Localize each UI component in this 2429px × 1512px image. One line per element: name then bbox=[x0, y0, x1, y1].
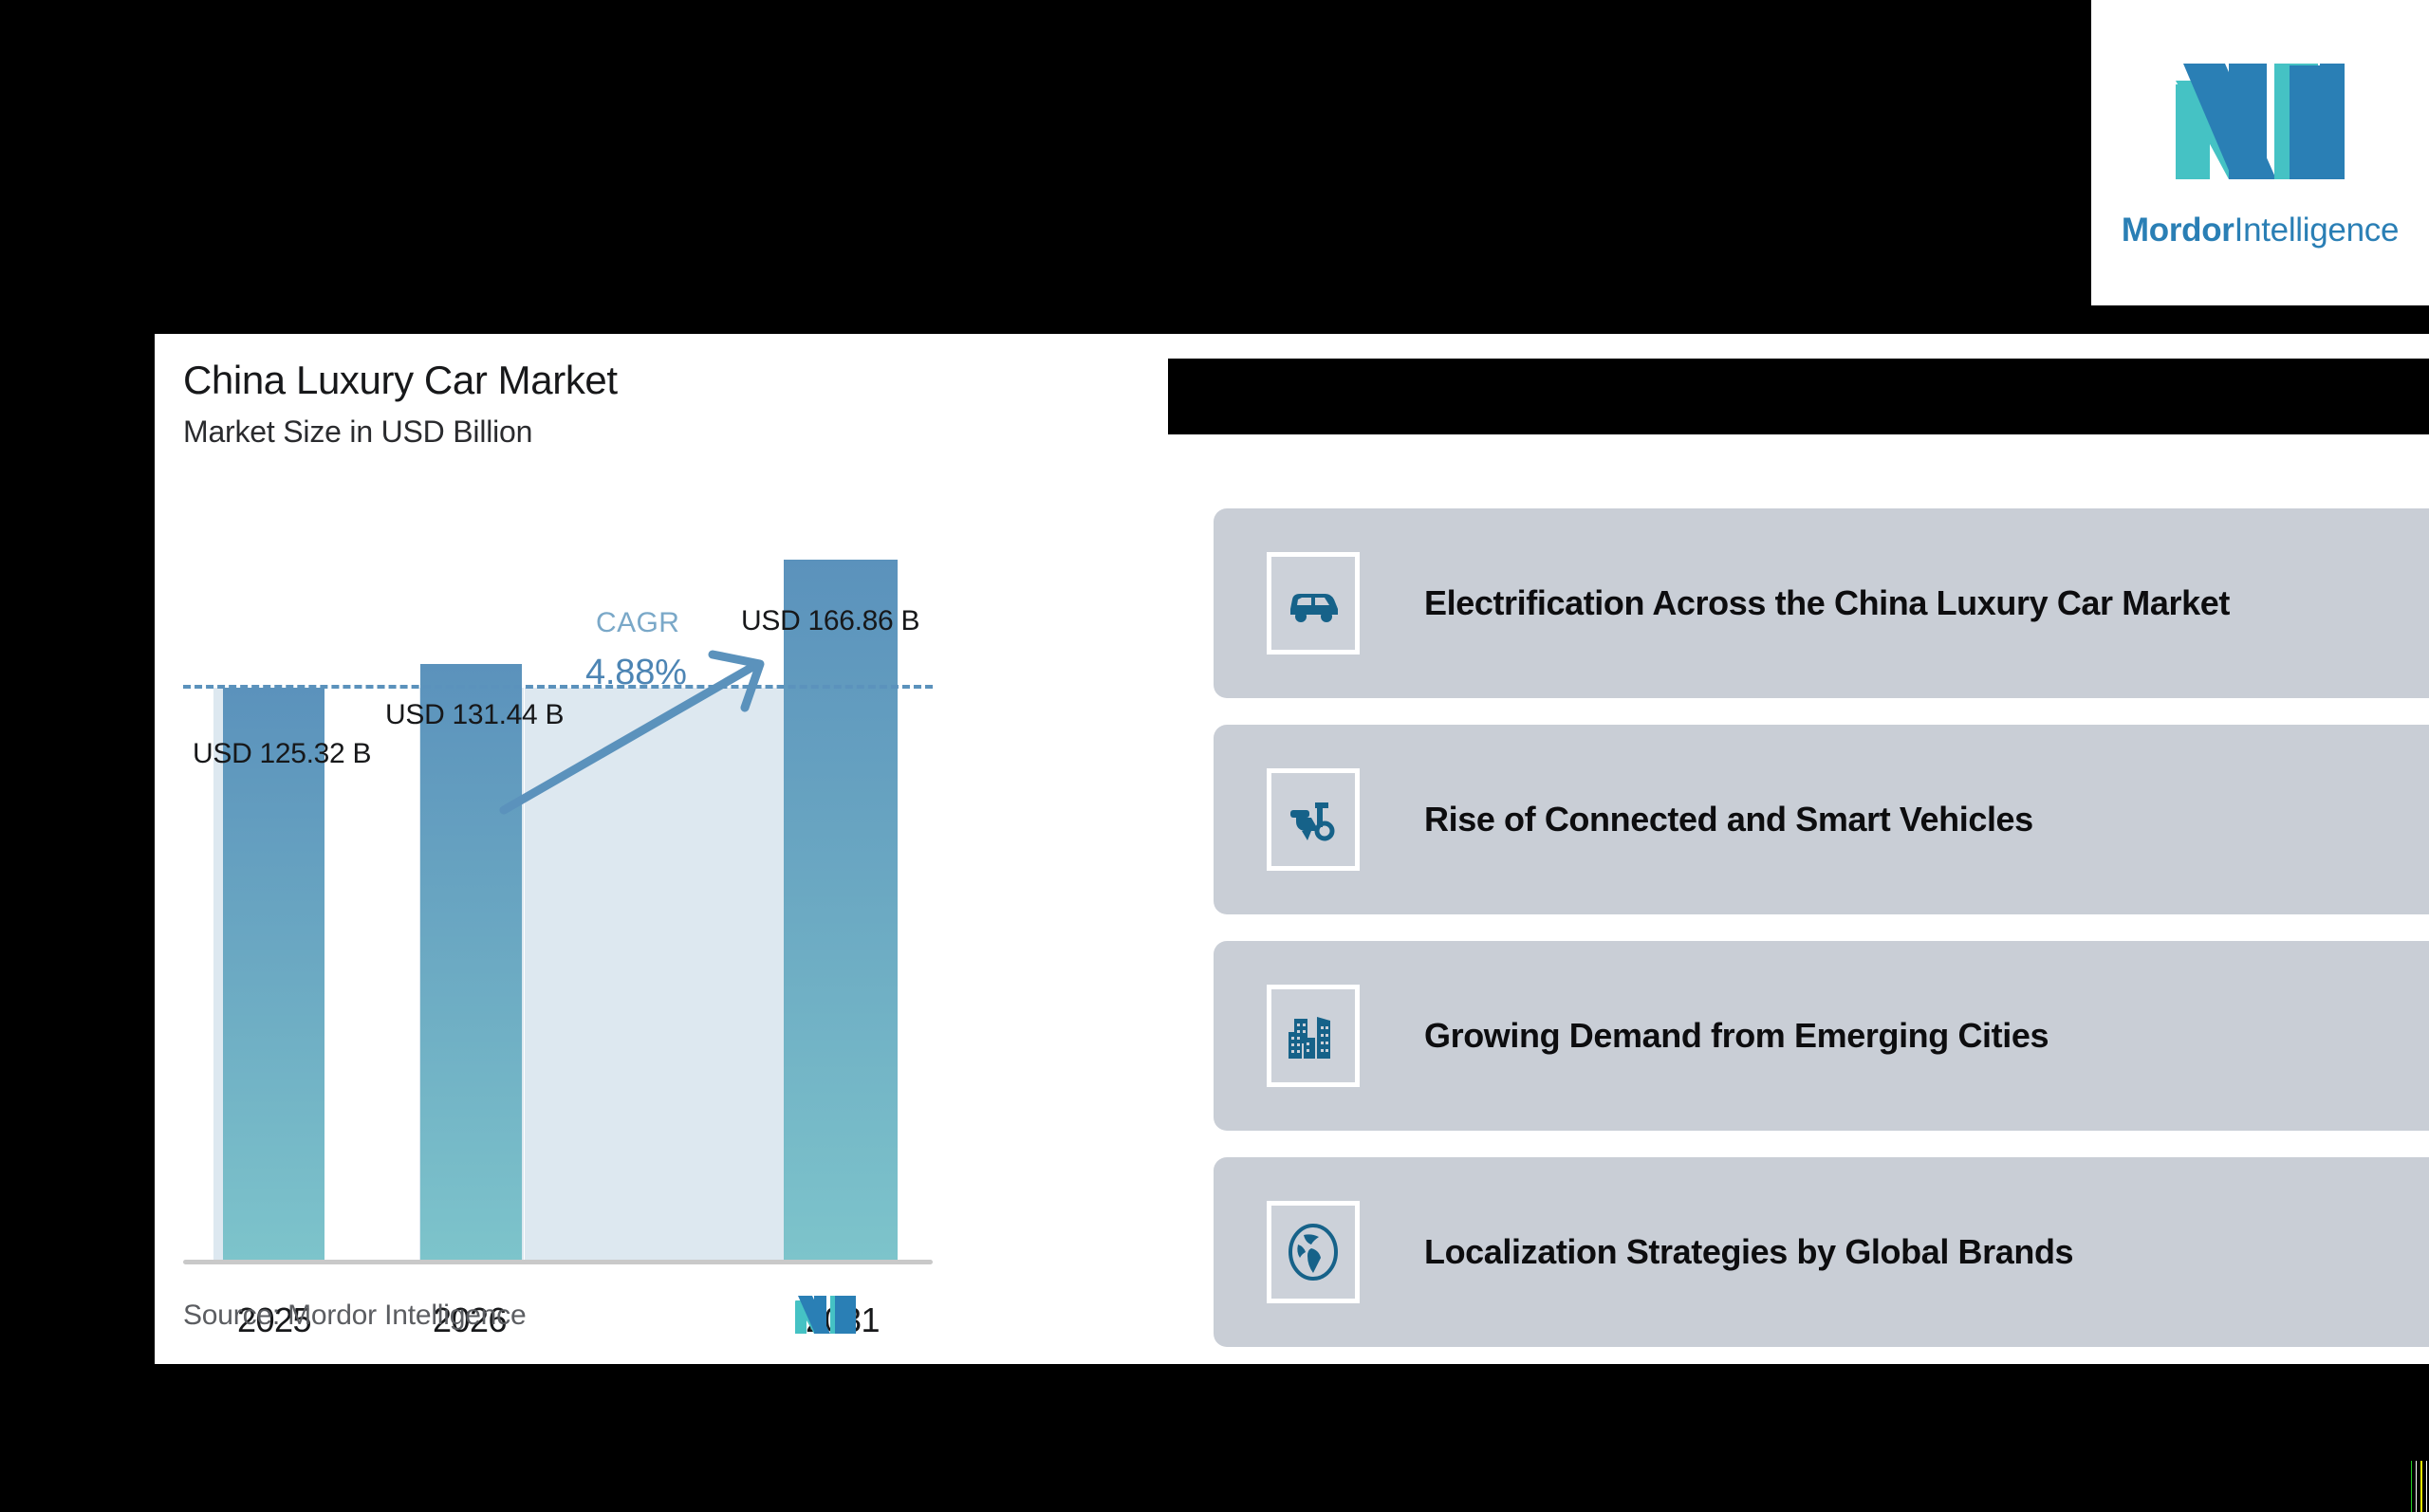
insights-header-title: Key Market Trends bbox=[1185, 366, 1573, 417]
car-icon bbox=[1283, 573, 1344, 634]
brand-name-bold: Mordor bbox=[2122, 212, 2234, 249]
insights-column: Key Market Trends Electrification Across… bbox=[1168, 334, 2429, 1364]
insight-card-emerging-cities[interactable]: Growing Demand from Emerging Cities bbox=[1214, 941, 2429, 1131]
bar-2031 bbox=[784, 560, 898, 1262]
content-sheet: China Luxury Car Market Market Size in U… bbox=[155, 334, 2429, 1364]
source-row: Source: Mordor Intelligence bbox=[183, 1288, 904, 1343]
edge-mark bbox=[2426, 1461, 2427, 1512]
mordor-mark-icon bbox=[793, 1294, 858, 1337]
cagr-label: CAGR bbox=[596, 607, 679, 639]
mordor-intelligence-logo-icon bbox=[2170, 56, 2350, 198]
bar-chart-plot: USD 125.32 B USD 131.44 B USD 166.86 B C… bbox=[183, 514, 952, 1363]
chart-subtitle: Market Size in USD Billion bbox=[183, 415, 532, 450]
globe-icon bbox=[1283, 1222, 1344, 1282]
x-axis-line bbox=[183, 1260, 933, 1264]
brand-name-light: Intelligence bbox=[2234, 212, 2399, 249]
edge-mark bbox=[2420, 1461, 2421, 1512]
chart-panel: China Luxury Car Market Market Size in U… bbox=[155, 334, 1103, 1364]
icon-frame bbox=[1267, 1201, 1360, 1303]
bar-value-label-2025: USD 125.32 B bbox=[193, 738, 371, 770]
icon-frame bbox=[1267, 985, 1360, 1087]
brand-logo-card: MordorIntelligence bbox=[2091, 0, 2429, 305]
insight-label: Rise of Connected and Smart Vehicles bbox=[1424, 800, 2033, 839]
insight-card-electrification[interactable]: Electrification Across the China Luxury … bbox=[1214, 508, 2429, 698]
top-black-band bbox=[0, 0, 2429, 341]
edge-mark bbox=[2416, 1461, 2417, 1512]
insight-label: Electrification Across the China Luxury … bbox=[1424, 583, 2230, 623]
insight-card-connected-vehicles[interactable]: Rise of Connected and Smart Vehicles bbox=[1214, 725, 2429, 914]
insight-card-localization[interactable]: Localization Strategies by Global Brands bbox=[1214, 1157, 2429, 1347]
edge-color-marks bbox=[2411, 1461, 2429, 1512]
source-text: Source: Mordor Intelligence bbox=[183, 1300, 526, 1332]
brand-wordmark: MordorIntelligence bbox=[2122, 212, 2399, 249]
growth-arrow-icon bbox=[496, 647, 781, 818]
buildings-icon bbox=[1283, 1005, 1344, 1066]
icon-frame bbox=[1267, 552, 1360, 655]
scooter-icon bbox=[1283, 789, 1344, 850]
bar-value-label-2031: USD 166.86 B bbox=[741, 605, 919, 637]
icon-frame bbox=[1267, 768, 1360, 871]
edge-mark bbox=[2411, 1461, 2412, 1512]
insight-label: Growing Demand from Emerging Cities bbox=[1424, 1016, 2049, 1056]
insight-label: Localization Strategies by Global Brands bbox=[1424, 1232, 2073, 1272]
bar-2025 bbox=[223, 688, 324, 1262]
chart-title: China Luxury Car Market bbox=[183, 358, 618, 403]
insights-header-bar: Key Market Trends bbox=[1168, 359, 2429, 434]
